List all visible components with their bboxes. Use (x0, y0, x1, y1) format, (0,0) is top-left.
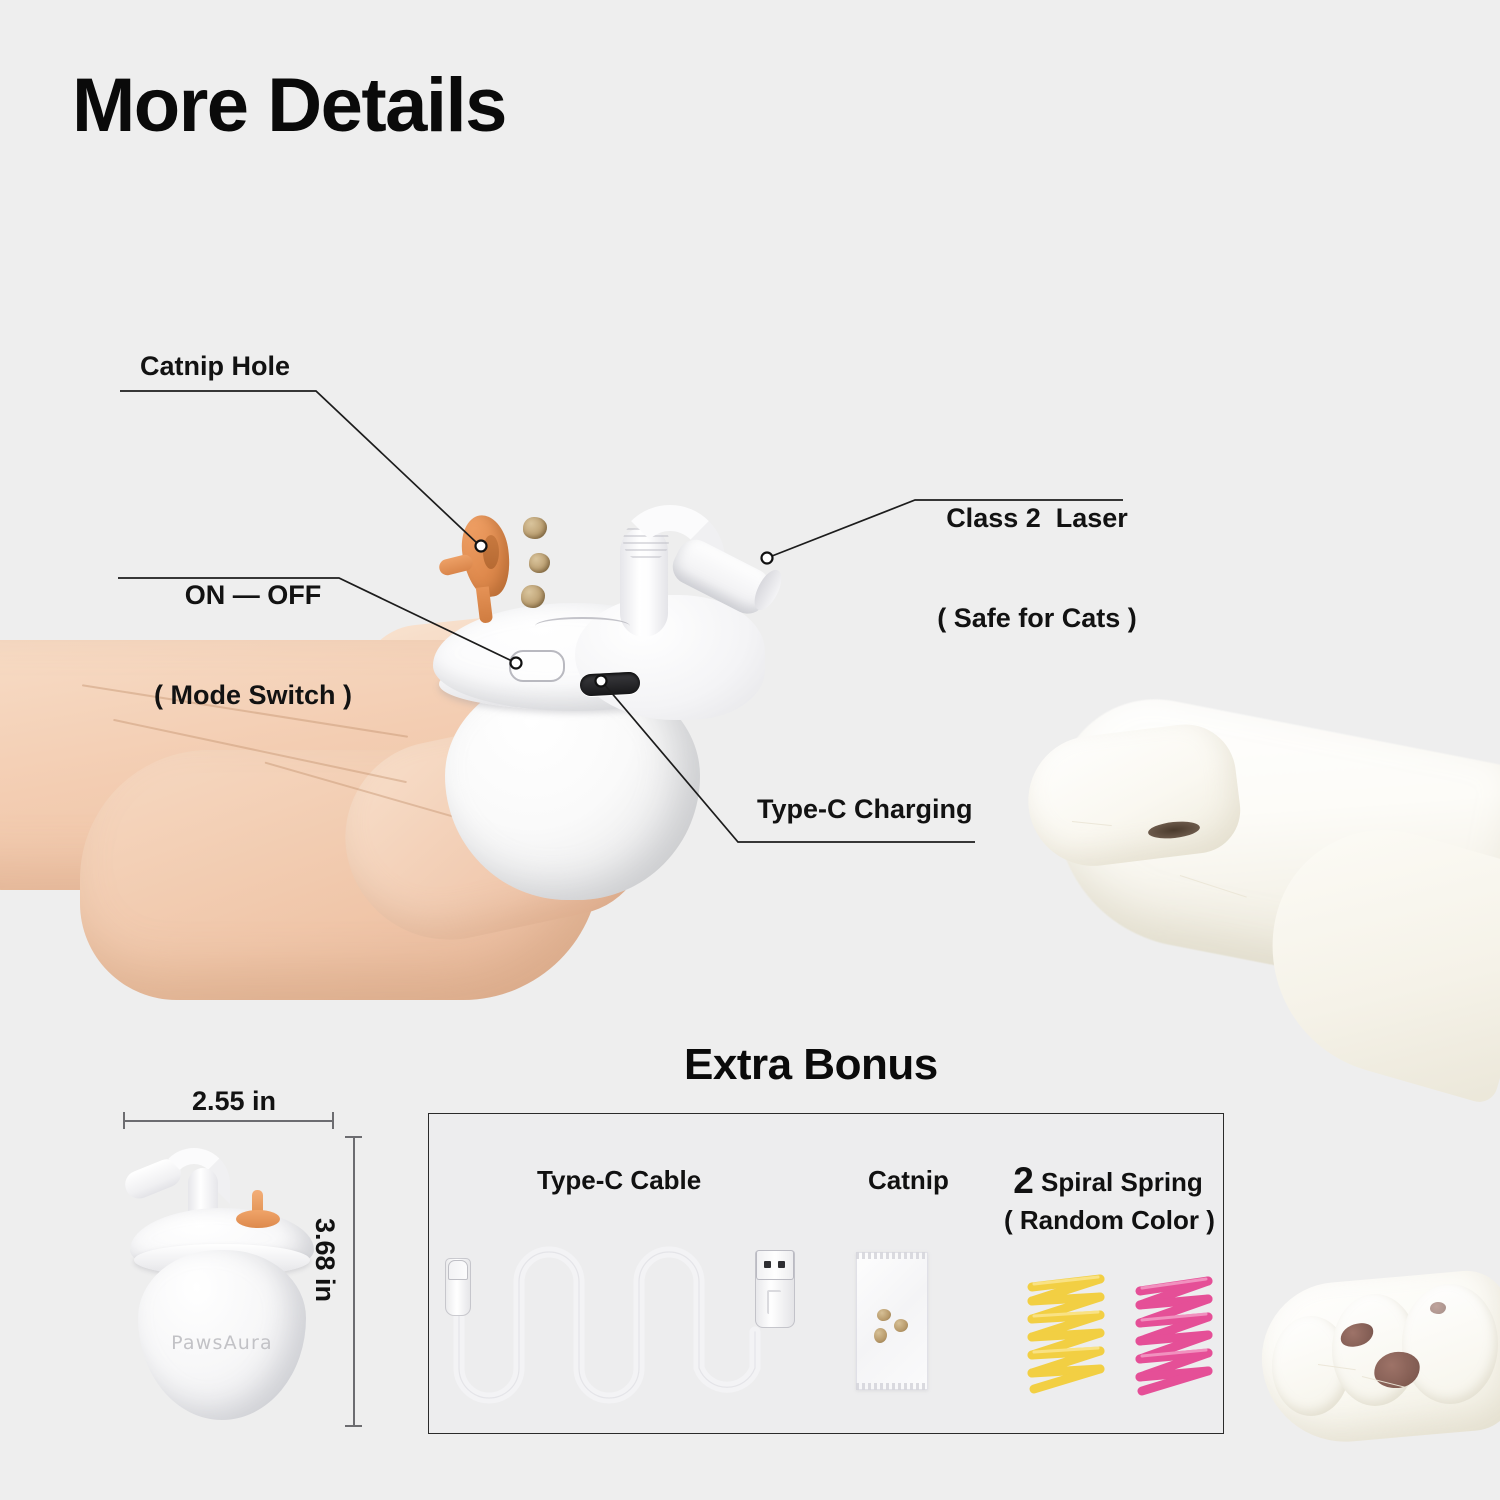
width-dimension-cap-right (332, 1112, 334, 1129)
width-dimension-label: 2.55 in (192, 1086, 276, 1117)
catnip-seed (877, 1309, 891, 1321)
catnip-hole (483, 535, 499, 569)
catnip-bag (856, 1252, 928, 1390)
cat-paw-bottom (1262, 1268, 1500, 1468)
mini-catnip-plug (236, 1210, 280, 1228)
type-c-port[interactable] (579, 671, 640, 696)
usb-a-pin (778, 1261, 785, 1268)
usb-a-pin (764, 1261, 771, 1268)
bonus-caption-catnip: Catnip (868, 1164, 949, 1197)
catnip-seed (874, 1328, 887, 1343)
laser-line2: ( Safe for Cats ) (912, 602, 1162, 635)
catnip-pellet (523, 517, 547, 539)
usb-a-head (756, 1250, 794, 1280)
mode-switch-line1: ON — OFF (118, 579, 388, 612)
catnip-seed (894, 1319, 908, 1332)
width-dimension-cap-left (123, 1112, 125, 1129)
laser-line1: Class 2 Laser (912, 502, 1162, 535)
usb-a-connector (755, 1250, 795, 1328)
spring-caption-line2: ( Random Color ) (1004, 1204, 1212, 1237)
cat-toe-bean (1430, 1302, 1446, 1314)
mode-switch-button[interactable] (509, 650, 565, 682)
width-dimension-line (123, 1120, 333, 1122)
callout-label-mode-switch: ON — OFF ( Mode Switch ) (118, 512, 388, 780)
catnip-pellet (529, 553, 550, 573)
spiral-spring-yellow (1020, 1265, 1112, 1405)
height-dimension-label: 3.68 in (309, 1218, 340, 1302)
cable-wire (445, 1240, 795, 1420)
callout-label-catnip-hole: Catnip Hole (140, 350, 290, 383)
spring-caption-line1: 2 Spiral Spring (1004, 1158, 1212, 1204)
device-seam (535, 617, 630, 635)
catnip-pellet (521, 585, 545, 608)
brand-logo: PawsAura (162, 1332, 282, 1354)
product-dimension-view: PawsAura (118, 1140, 333, 1430)
spring-label: Spiral Spring (1041, 1167, 1203, 1197)
usb-c-connector (445, 1258, 471, 1316)
bonus-caption-cable: Type-C Cable (537, 1164, 701, 1197)
cat-paw-front (1021, 719, 1245, 874)
height-dimension-line (353, 1136, 355, 1426)
callout-label-type-c-charging: Type-C Charging (757, 793, 973, 826)
bonus-section-title: Extra Bonus (684, 1040, 938, 1090)
usb-logo-icon (767, 1290, 781, 1314)
usb-c-tip (448, 1260, 468, 1280)
product-device (425, 495, 825, 915)
bonus-caption-spring: 2 Spiral Spring ( Random Color ) (1004, 1158, 1212, 1237)
spiral-spring-pink (1128, 1265, 1220, 1405)
callout-label-laser: Class 2 Laser ( Safe for Cats ) (912, 435, 1162, 703)
mode-switch-line2: ( Mode Switch ) (118, 679, 388, 712)
infographic-canvas: More Details Catnip Hole (0, 0, 1500, 1500)
type-c-cable (445, 1240, 795, 1420)
bag-serrated-edge (856, 1252, 928, 1259)
bag-serrated-edge (856, 1383, 928, 1390)
cat-leg (1020, 725, 1500, 1065)
height-dimension-cap-top (345, 1136, 362, 1138)
spring-count: 2 (1013, 1160, 1034, 1201)
page-title: More Details (72, 68, 506, 144)
cat-toe (1402, 1284, 1498, 1404)
height-dimension-cap-bottom (345, 1425, 362, 1427)
